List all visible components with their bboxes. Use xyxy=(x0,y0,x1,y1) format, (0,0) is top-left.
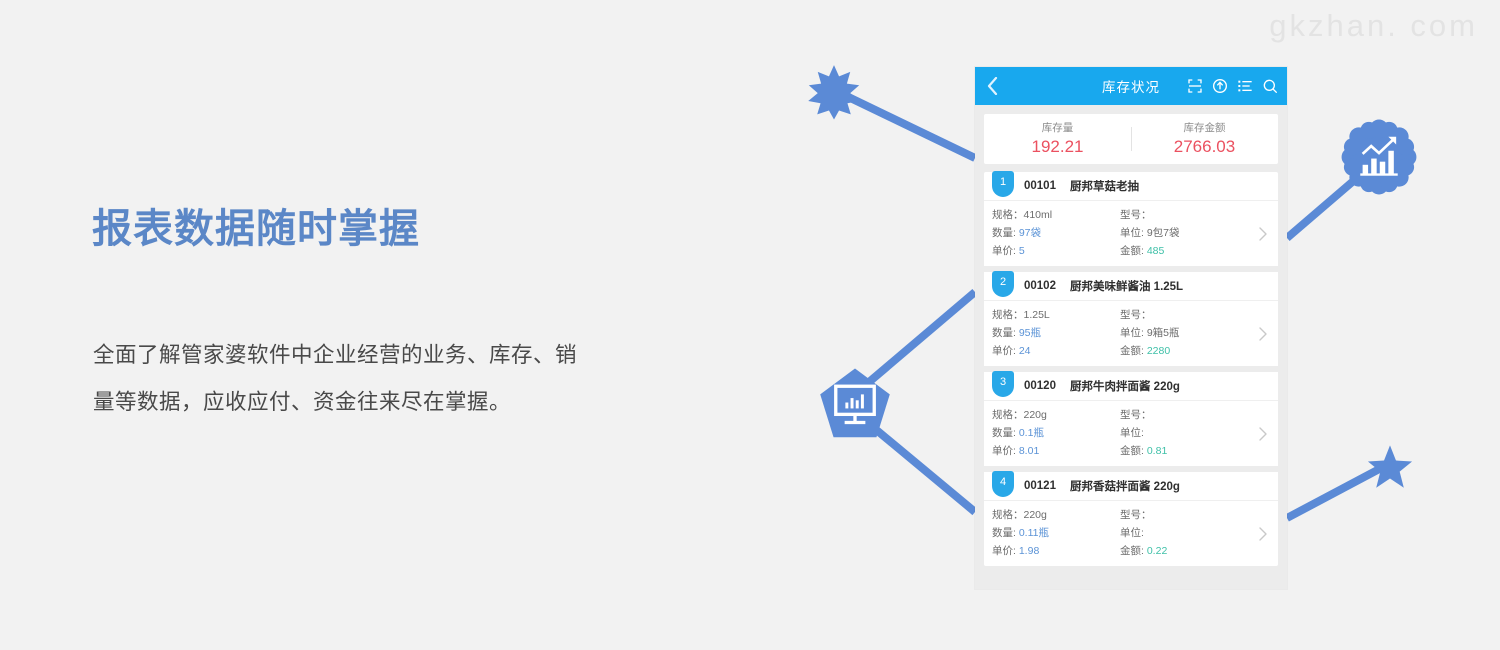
model-field: 型号： xyxy=(1120,406,1248,424)
table-row[interactable]: 3 00120 厨邦牛肉拌面酱 220g 规格：220g 型号： 数量: 0.1… xyxy=(984,366,1278,466)
price-field: 单价: 24 xyxy=(992,342,1120,360)
chevron-right-icon[interactable] xyxy=(1259,227,1267,241)
poster-stage: gkzhan. com 报表数据随时掌握 全面了解管家婆软件中企业经营的业务、库… xyxy=(0,0,1500,650)
row-index-badge: 2 xyxy=(992,271,1014,297)
unit-field: 单位: 9包7袋 xyxy=(1120,224,1248,242)
row-details: 规格：220g 型号： 数量: 0.11瓶 单位: 单价: 1.98 金额: 0… xyxy=(984,501,1278,566)
stat-stock-quantity: 库存量 192.21 xyxy=(984,121,1131,157)
spec-field: 规格：220g xyxy=(992,406,1120,424)
stat-label: 库存金额 xyxy=(1131,121,1278,136)
stat-label: 库存量 xyxy=(984,121,1131,136)
product-code: 00120 xyxy=(1024,380,1056,392)
pentagon-monitor-badge xyxy=(818,367,892,441)
row-details: 规格：410ml 型号： 数量: 97袋 单位: 9包7袋 单价: 5 金额: … xyxy=(984,201,1278,266)
product-name: 厨邦牛肉拌面酱 220g xyxy=(1070,378,1180,394)
chevron-right-icon[interactable] xyxy=(1259,327,1267,341)
row-index-badge: 4 xyxy=(992,471,1014,497)
spiky-burst-icon xyxy=(806,64,862,120)
five-point-star-badge xyxy=(1367,444,1413,490)
price-field: 单价: 5 xyxy=(992,242,1120,260)
row-header: 4 00121 厨邦香菇拌面酱 220g xyxy=(984,472,1278,501)
model-field: 型号： xyxy=(1120,306,1248,324)
row-details: 规格：220g 型号： 数量: 0.1瓶 单位: 单价: 8.01 金额: 0.… xyxy=(984,401,1278,466)
qty-field: 数量: 95瓶 xyxy=(992,324,1120,342)
stat-value: 192.21 xyxy=(984,136,1131,157)
product-name: 厨邦香菇拌面酱 220g xyxy=(1070,478,1180,494)
back-button[interactable] xyxy=(975,77,1009,95)
qty-field: 数量: 0.11瓶 xyxy=(992,524,1120,542)
row-details: 规格：1.25L 型号： 数量: 95瓶 单位: 9箱5瓶 单价: 24 金额:… xyxy=(984,301,1278,366)
unit-field: 单位: xyxy=(1120,424,1248,442)
row-index-badge: 1 xyxy=(992,171,1014,197)
scallop-chart-badge xyxy=(1340,118,1418,196)
scan-icon[interactable] xyxy=(1187,78,1203,94)
product-code: 00121 xyxy=(1024,480,1056,492)
row-header: 1 00101 厨邦草菇老抽 xyxy=(984,172,1278,201)
row-header: 2 00102 厨邦美味鲜酱油 1.25L xyxy=(984,272,1278,301)
table-row[interactable]: 1 00101 厨邦草菇老抽 规格：410ml 型号： 数量: 97袋 单位: … xyxy=(984,172,1278,266)
chevron-right-icon[interactable] xyxy=(1259,527,1267,541)
model-field: 型号： xyxy=(1120,206,1248,224)
app-panel: 库存状况 xyxy=(975,67,1287,589)
spec-field: 规格：220g xyxy=(992,506,1120,524)
amount-field: 金额: 0.22 xyxy=(1120,542,1248,560)
unit-field: 单位: xyxy=(1120,524,1248,542)
search-icon[interactable] xyxy=(1262,78,1278,94)
product-code: 00101 xyxy=(1024,180,1056,192)
app-header: 库存状况 xyxy=(975,67,1287,105)
spec-field: 规格：1.25L xyxy=(992,306,1120,324)
stats-card: 库存量 192.21 库存金额 2766.03 xyxy=(984,114,1278,164)
product-name: 厨邦美味鲜酱油 1.25L xyxy=(1070,278,1183,294)
price-field: 单价: 8.01 xyxy=(992,442,1120,460)
chevron-right-icon[interactable] xyxy=(1259,427,1267,441)
stat-stock-amount: 库存金额 2766.03 xyxy=(1131,121,1278,157)
qty-field: 数量: 0.1瓶 xyxy=(992,424,1120,442)
table-row[interactable]: 4 00121 厨邦香菇拌面酱 220g 规格：220g 型号： 数量: 0.1… xyxy=(984,466,1278,566)
price-field: 单价: 1.98 xyxy=(992,542,1120,560)
app-header-tools xyxy=(1187,78,1287,94)
row-index-badge: 3 xyxy=(992,371,1014,397)
product-name: 厨邦草菇老抽 xyxy=(1070,178,1139,194)
stat-value: 2766.03 xyxy=(1131,136,1278,157)
spec-field: 规格：410ml xyxy=(992,206,1120,224)
chevron-left-icon xyxy=(987,77,998,95)
qty-field: 数量: 97袋 xyxy=(992,224,1120,242)
amount-field: 金额: 0.81 xyxy=(1120,442,1248,460)
upload-circle-icon[interactable] xyxy=(1212,78,1228,94)
list-icon[interactable] xyxy=(1237,78,1253,94)
amount-field: 金额: 2280 xyxy=(1120,342,1248,360)
product-code: 00102 xyxy=(1024,280,1056,292)
amount-field: 金额: 485 xyxy=(1120,242,1248,260)
list-footer-spacer xyxy=(975,566,1287,612)
row-header: 3 00120 厨邦牛肉拌面酱 220g xyxy=(984,372,1278,401)
inventory-list: 1 00101 厨邦草菇老抽 规格：410ml 型号： 数量: 97袋 单位: … xyxy=(984,172,1278,566)
model-field: 型号： xyxy=(1120,506,1248,524)
table-row[interactable]: 2 00102 厨邦美味鲜酱油 1.25L 规格：1.25L 型号： 数量: 9… xyxy=(984,266,1278,366)
unit-field: 单位: 9箱5瓶 xyxy=(1120,324,1248,342)
